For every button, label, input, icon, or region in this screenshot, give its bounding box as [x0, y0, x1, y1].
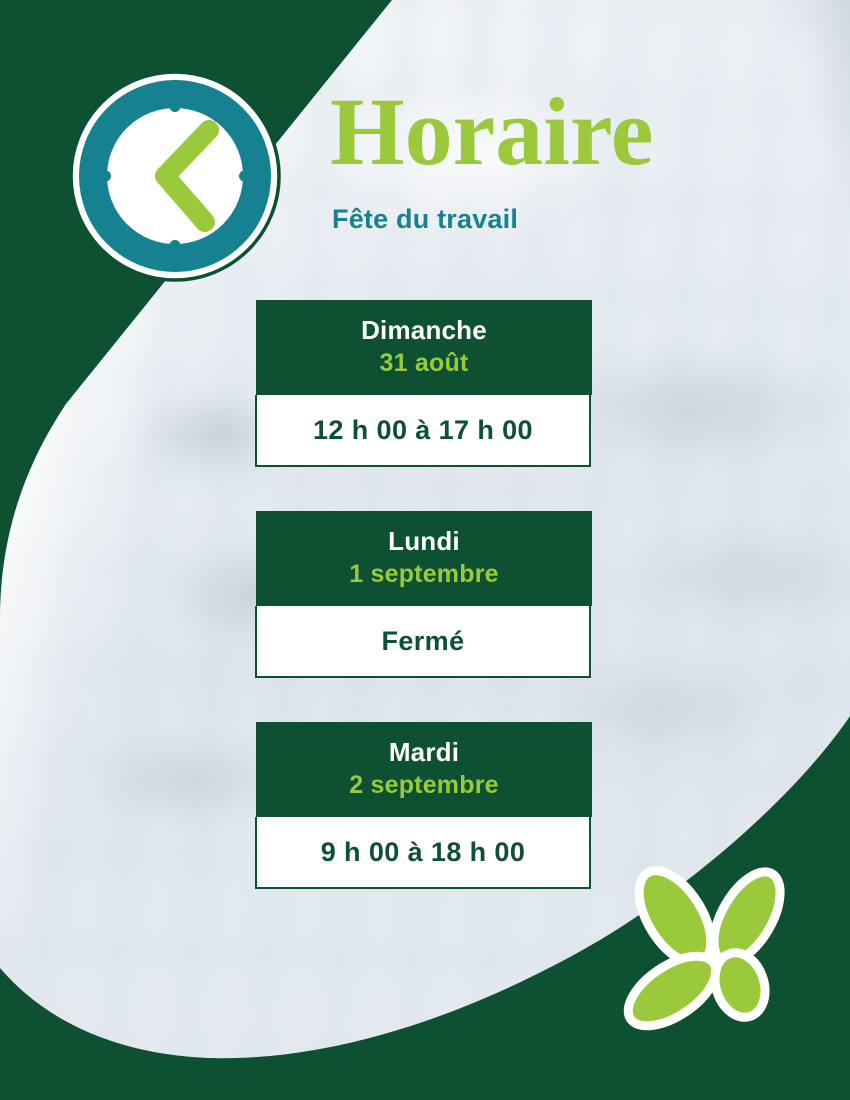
schedule-day-label: Mardi: [266, 736, 582, 769]
schedule-card-body: Fermé: [255, 606, 591, 678]
schedule-date-label: 1 septembre: [266, 558, 582, 590]
schedule-day-label: Dimanche: [266, 314, 582, 347]
schedule-hours-value: 9 h 00 à 18 h 00: [321, 837, 526, 868]
schedule-card-header: Mardi 2 septembre: [256, 722, 592, 817]
schedule-card: Dimanche 31 août 12 h 00 à 17 h 00: [256, 300, 592, 467]
schedule-card-header: Lundi 1 septembre: [256, 511, 592, 606]
page-subtitle: Fête du travail: [332, 206, 518, 233]
schedule-date-label: 31 août: [266, 347, 582, 379]
horaire-poster: Horaire Fête du travail Dimanche 31 août…: [0, 0, 850, 1100]
schedule-date-label: 2 septembre: [266, 769, 582, 801]
butterfly-logo-icon: [612, 855, 812, 1055]
schedule-card-body: 12 h 00 à 17 h 00: [255, 395, 591, 467]
schedule-hours-value: Fermé: [381, 626, 464, 657]
clock-icon: [69, 70, 281, 282]
schedule-card: Lundi 1 septembre Fermé: [256, 511, 592, 678]
schedule-card-body: 9 h 00 à 18 h 00: [255, 817, 591, 889]
page-title: Horaire: [330, 84, 653, 180]
schedule-day-label: Lundi: [266, 525, 582, 558]
schedule-hours-value: 12 h 00 à 17 h 00: [313, 415, 533, 446]
schedule-card: Mardi 2 septembre 9 h 00 à 18 h 00: [256, 722, 592, 889]
schedule-card-header: Dimanche 31 août: [256, 300, 592, 395]
